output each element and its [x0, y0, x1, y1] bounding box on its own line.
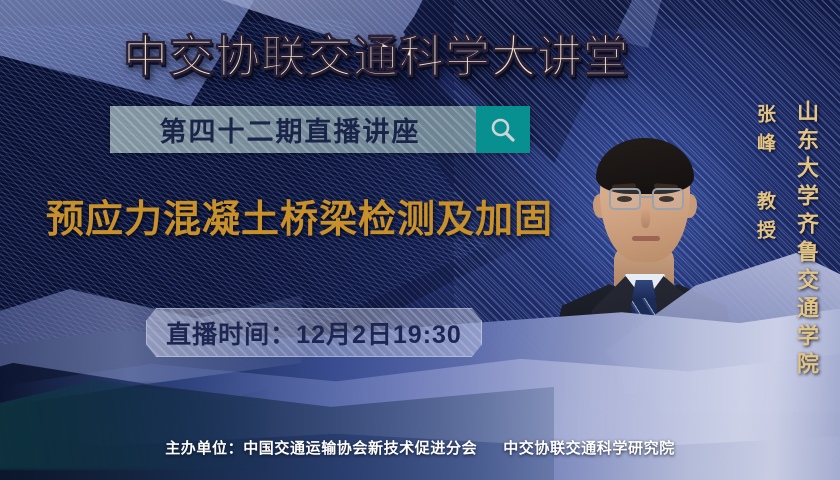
live-time-text: 直播时间：12月2日19:30	[166, 315, 462, 351]
footer-organizer-secondary: 中交协联交通科学研究院	[503, 437, 675, 458]
live-lecture-poster: 中交协联交通科学大讲堂 第四十二期直播讲座 预应力混凝土桥梁检测及加固 直播时间…	[0, 0, 840, 480]
portrait-eyeglass-right	[652, 188, 684, 210]
portrait-eyeglass-left	[609, 188, 641, 210]
episode-label: 第四十二期直播讲座	[110, 106, 476, 153]
search-button[interactable]	[476, 106, 530, 153]
speaker-name-title: 张峰 教授	[751, 104, 778, 249]
live-time-badge: 直播时间：12月2日19:30	[146, 308, 482, 357]
episode-banner: 第四十二期直播讲座	[110, 106, 530, 153]
page-title: 中交协联交通科学大讲堂	[123, 20, 629, 85]
lecture-title: 预应力混凝土桥梁检测及加固	[46, 188, 553, 243]
footer-organizer-primary: 主办单位：中国交通运输协会新技术促进分会	[165, 437, 477, 458]
speaker-affiliation: 山东大学齐鲁交通学院	[790, 100, 822, 380]
footer: 主办单位：中国交通运输协会新技术促进分会 中交协联交通科学研究院	[0, 437, 840, 458]
portrait-nose	[641, 208, 650, 228]
portrait-hair	[596, 138, 694, 194]
portrait-eyeglass-bridge	[641, 196, 652, 198]
portrait-necktie-knot	[632, 280, 656, 298]
portrait-mouth	[632, 236, 660, 241]
search-icon	[488, 115, 518, 145]
